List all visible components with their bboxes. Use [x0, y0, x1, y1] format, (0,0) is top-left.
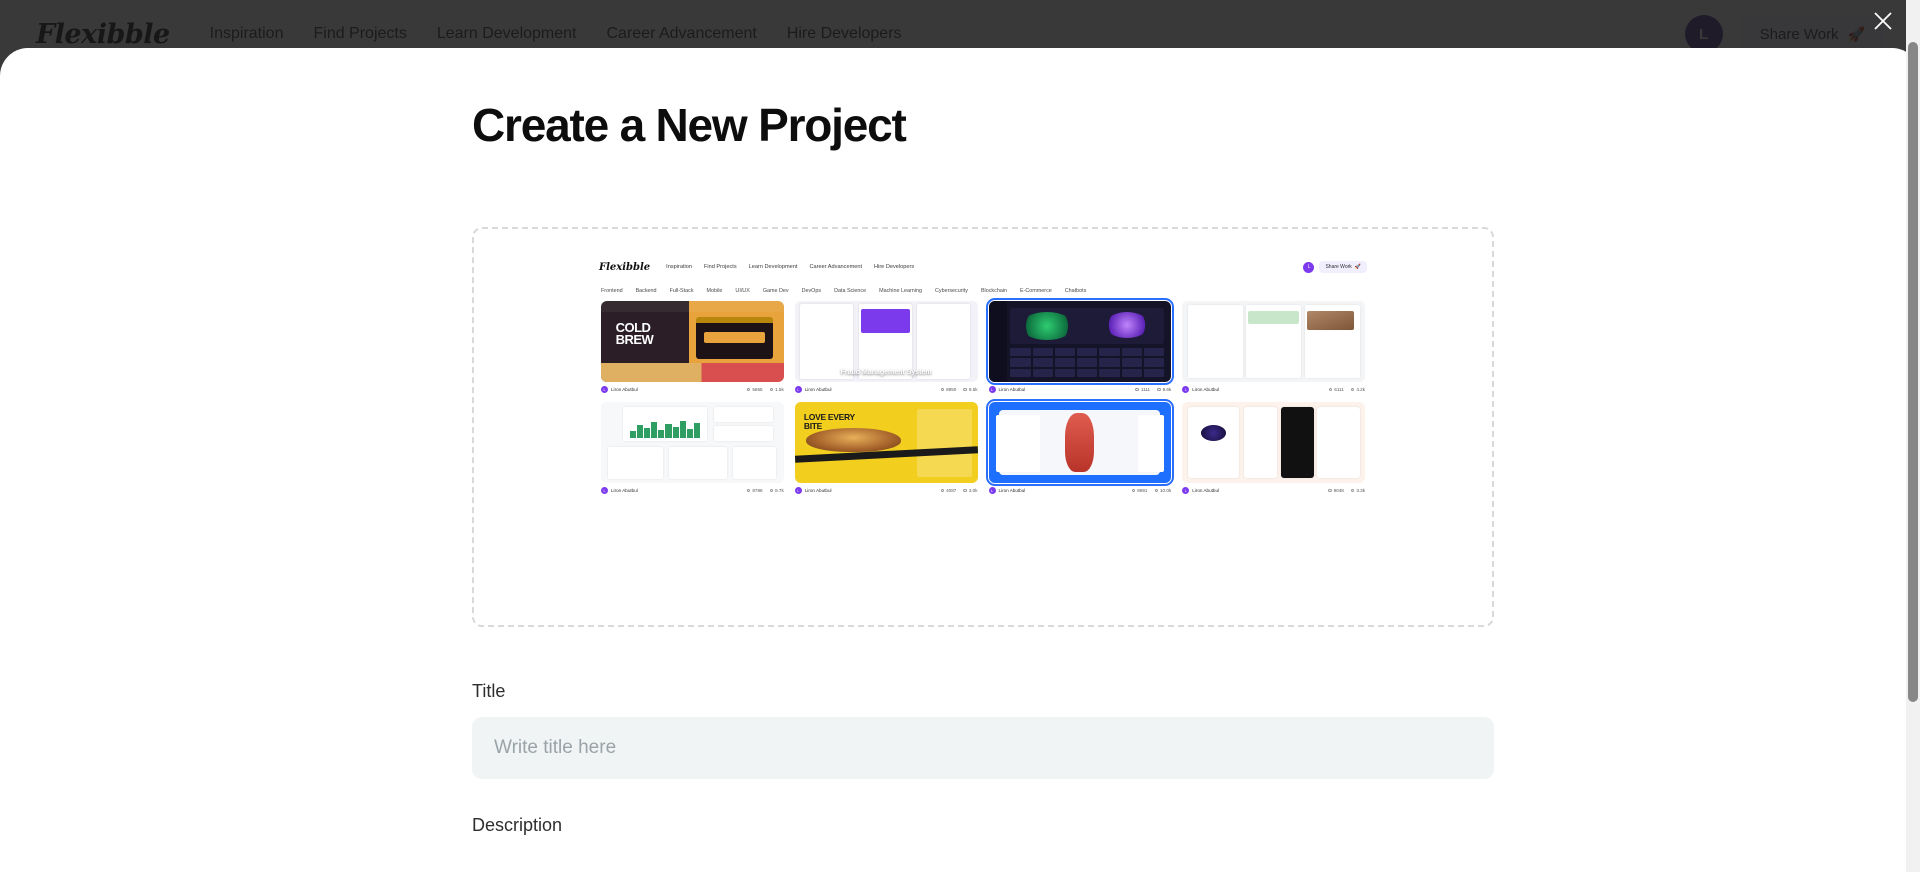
preview-card-meta: L Liron Abutbul 9048 3.3k	[1182, 487, 1365, 494]
heart-icon	[941, 489, 945, 493]
preview-card: L Liron Abutbul 6111 4.2k	[1182, 301, 1365, 393]
close-icon[interactable]	[1866, 4, 1900, 38]
preview-card-meta: L Liron Abutbul 8691 10.0k	[989, 487, 1172, 494]
preview-avatar: L	[1303, 262, 1314, 273]
preview-card-author: Liron Abutbul	[805, 488, 832, 493]
preview-category-frontend: Frontend	[601, 288, 623, 294]
image-dropzone[interactable]: Flexibble Inspiration Find Projects Lear…	[472, 227, 1494, 627]
preview-card-avatar: L	[1182, 386, 1189, 393]
preview-thumbnail-fintech	[1182, 402, 1365, 483]
preview-card-author: Liron Abutbul	[805, 387, 832, 392]
preview-nav-links: Inspiration Find Projects Learn Developm…	[666, 264, 914, 270]
eye-icon	[963, 388, 967, 392]
preview-nav-right: L Share Work 🚀	[1303, 261, 1367, 273]
preview-card-meta: L Liron Abutbul 6111 4.2k	[1182, 386, 1365, 393]
preview-category-data-science: Data Science	[834, 288, 866, 294]
preview-card: L Liron Abutbul 8786 8.7k	[601, 402, 784, 494]
preview-card-meta: L Liron Abutbul 8950 9.5k	[795, 386, 978, 393]
preview-category-blockchain: Blockchain	[981, 288, 1007, 294]
preview-nav-link-career-advancement: Career Advancement	[809, 264, 862, 270]
title-label: Title	[472, 681, 1472, 702]
preview-card-avatar: L	[989, 386, 996, 393]
preview-category-ui-ux: UI/UX	[735, 288, 749, 294]
preview-card-avatar: L	[795, 386, 802, 393]
description-label: Description	[472, 815, 1472, 836]
preview-category-ecommerce: E-Commerce	[1020, 288, 1052, 294]
preview-card: L Liron Abutbul 8691 10.0k	[989, 402, 1172, 494]
page-scrollbar[interactable]	[1906, 0, 1920, 872]
preview-category-cybersecurity: Cybersecurity	[935, 288, 968, 294]
preview-nav-link-inspiration: Inspiration	[666, 264, 692, 270]
preview-card-avatar: L	[601, 386, 608, 393]
preview-card-views: 3.0k	[969, 488, 978, 493]
preview-card: COLDBREW L Liron Abutbul 5655	[601, 301, 784, 393]
uploaded-image-preview: Flexibble Inspiration Find Projects Lear…	[587, 254, 1379, 599]
heart-icon	[1328, 489, 1332, 493]
eye-icon	[1351, 489, 1355, 493]
preview-card-likes: 8950	[946, 387, 956, 392]
preview-card-author: Liron Abutbul	[1192, 488, 1219, 493]
heart-icon	[747, 489, 751, 493]
create-project-modal: Create a New Project Flexibble Inspirati…	[0, 48, 1920, 872]
eye-icon	[1351, 388, 1355, 392]
scrollbar-thumb[interactable]	[1908, 42, 1918, 702]
preview-logo: Flexibble	[599, 262, 650, 273]
preview-card-likes: 5655	[752, 387, 762, 392]
preview-category-full-stack: Full-Stack	[670, 288, 694, 294]
title-field-group: Title	[472, 681, 1472, 779]
description-field-group: Description	[472, 815, 1472, 836]
preview-card: LOVE EVERYBITE L Liron Abutbul 4087	[795, 402, 978, 494]
preview-card-likes: 9048	[1334, 488, 1344, 493]
title-input[interactable]	[472, 717, 1494, 779]
heart-icon	[941, 388, 945, 392]
preview-thumbnail-game	[989, 301, 1172, 382]
preview-card-meta: L Liron Abutbul 8786 8.7k	[601, 487, 784, 494]
preview-category-mobile: Mobile	[707, 288, 723, 294]
preview-thumbnail-anatomy	[989, 402, 1172, 483]
preview-card: L Liron Abutbul 9048 3.3k	[1182, 402, 1365, 494]
preview-card: Fraud Management System L Liron Abutbul …	[795, 301, 978, 393]
preview-category-game-dev: Game Dev	[763, 288, 789, 294]
preview-category-devops: DevOps	[802, 288, 821, 294]
preview-card-views: 4.2k	[1356, 387, 1365, 392]
preview-card-views: 1.5k	[775, 387, 784, 392]
preview-thumbnail-fraud: Fraud Management System	[795, 301, 978, 382]
preview-nav-link-learn-development: Learn Development	[749, 264, 798, 270]
eye-icon	[770, 489, 774, 493]
preview-nav-link-find-projects: Find Projects	[704, 264, 737, 270]
preview-card-likes: 8786	[752, 488, 762, 493]
preview-card-avatar: L	[989, 487, 996, 494]
preview-category-chatbots: Chatbots	[1065, 288, 1087, 294]
preview-card-author: Liron Abutbul	[1192, 387, 1219, 392]
preview-card-likes: 8691	[1137, 488, 1147, 493]
preview-card-author: Liron Abutbul	[999, 488, 1026, 493]
page-title: Create a New Project	[472, 100, 1472, 151]
eye-icon	[963, 489, 967, 493]
heart-icon	[1329, 388, 1333, 392]
preview-project-grid: COLDBREW L Liron Abutbul 5655	[587, 301, 1379, 494]
preview-thumbnail-caption: Fraud Management System	[795, 369, 978, 376]
preview-card-views: 8.7k	[775, 488, 784, 493]
preview-share-label: Share Work	[1325, 264, 1351, 270]
preview-card-avatar: L	[601, 487, 608, 494]
eye-icon	[1155, 489, 1159, 493]
preview-card-views: 9.6k	[1163, 387, 1172, 392]
preview-card-author: Liron Abutbul	[611, 387, 638, 392]
preview-card: L Liron Abutbul 1111 9.6k	[989, 301, 1172, 393]
preview-category-machine-learning: Machine Learning	[879, 288, 922, 294]
eye-icon	[1157, 388, 1161, 392]
preview-nav-link-hire-developers: Hire Developers	[874, 264, 914, 270]
preview-card-views: 9.5k	[969, 387, 978, 392]
preview-category-filters: Frontend Backend Full-Stack Mobile UI/UX…	[587, 280, 1379, 301]
preview-card-meta: L Liron Abutbul 4087 3.0k	[795, 487, 978, 494]
preview-category-backend: Backend	[636, 288, 657, 294]
eye-icon	[770, 388, 774, 392]
preview-card-likes: 4087	[946, 488, 956, 493]
preview-card-author: Liron Abutbul	[611, 488, 638, 493]
preview-card-meta: L Liron Abutbul 1111 9.6k	[989, 386, 1172, 393]
preview-card-likes: 6111	[1334, 387, 1344, 392]
preview-card-views: 3.3k	[1356, 488, 1365, 493]
preview-rocket-icon: 🚀	[1355, 264, 1361, 270]
preview-card-author: Liron Abutbul	[999, 387, 1026, 392]
preview-card-views: 10.0k	[1160, 488, 1171, 493]
preview-share-button: Share Work 🚀	[1319, 261, 1367, 273]
preview-card-avatar: L	[795, 487, 802, 494]
heart-icon	[747, 388, 751, 392]
preview-thumbnail-dashboard	[601, 402, 784, 483]
preview-card-avatar: L	[1182, 487, 1189, 494]
preview-thumbnail-coldbrew: COLDBREW	[601, 301, 784, 382]
preview-thumbnail-burger: LOVE EVERYBITE	[795, 402, 978, 483]
heart-icon	[1132, 489, 1136, 493]
preview-card-meta: L Liron Abutbul 5655 1.5k	[601, 386, 784, 393]
preview-navbar: Flexibble Inspiration Find Projects Lear…	[587, 254, 1379, 280]
heart-icon	[1135, 388, 1139, 392]
preview-thumbnail-cards	[1182, 301, 1365, 382]
preview-card-likes: 1111	[1141, 387, 1150, 392]
